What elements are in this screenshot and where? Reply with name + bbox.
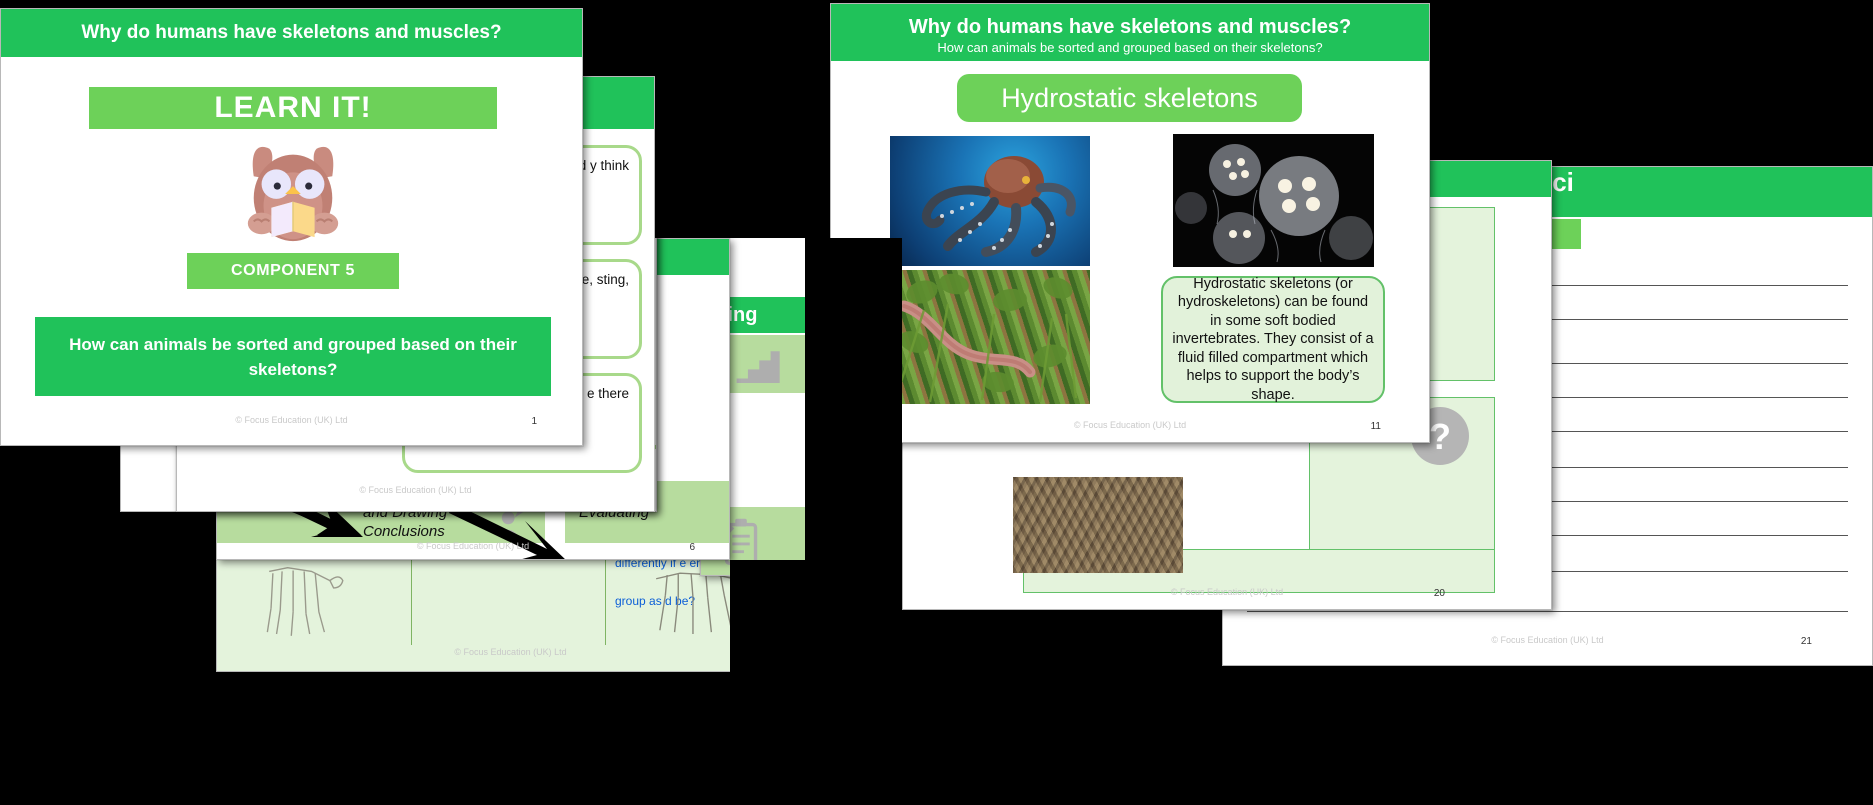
slide-learn-it[interactable]: Why do humans have skeletons and muscles… <box>0 8 583 446</box>
learn-it-label: LEARN IT! <box>214 91 371 125</box>
component-label: COMPONENT 5 <box>231 262 355 280</box>
earthworm-photo <box>890 270 1090 404</box>
component-badge: COMPONENT 5 <box>187 253 399 289</box>
background-mask <box>1222 666 1552 805</box>
slide-hydrostatic[interactable]: Why do humans have skeletons and muscles… <box>830 3 1430 443</box>
copyright-text: © Focus Education (UK) Ltd <box>903 587 1551 597</box>
worksheet-line <box>1247 611 1848 612</box>
jellyfish-photo <box>1173 134 1374 267</box>
background-mask <box>1552 0 1873 166</box>
slide-deck-canvas: inci rdo da inci to be Vinci possess? © … <box>0 0 1873 805</box>
page-number: 21 <box>1801 636 1812 647</box>
hydrostatic-info-box: Hydrostatic skeletons (or hydroskeletons… <box>1161 276 1385 403</box>
svg-text:?: ? <box>1429 416 1451 457</box>
learn-it-banner: LEARN IT! <box>89 87 497 129</box>
copyright-text: © Focus Education (UK) Ltd <box>831 420 1429 430</box>
page-number: 20 <box>1434 588 1445 599</box>
page-number: 1 <box>531 416 537 427</box>
page-title: Why do humans have skeletons and muscles… <box>81 9 501 57</box>
copyright-text: © Focus Education (UK) Ltd <box>1223 635 1872 645</box>
background-mask <box>1552 666 1873 805</box>
background-mask <box>902 610 1222 805</box>
fur-photo <box>1013 477 1183 573</box>
copyright-text: © Focus Education (UK) Ltd <box>217 541 729 551</box>
page-title: Why do humans have skeletons and muscles… <box>909 15 1351 39</box>
stairs-icon <box>733 349 781 383</box>
page-number: 11 <box>1371 421 1381 432</box>
skeleton-illustration-left <box>247 553 365 645</box>
big-question-text: How can animals be sorted and grouped ba… <box>45 332 541 382</box>
copyright-text: © Focus Education (UK) Ltd <box>177 485 654 495</box>
hydrostatic-title-pill: Hydrostatic skeletons <box>957 74 1302 122</box>
big-question-banner: How can animals be sorted and grouped ba… <box>35 317 551 396</box>
slide-hydrostatic-header: Why do humans have skeletons and muscles… <box>831 4 1429 61</box>
background-mask <box>730 560 820 805</box>
copyright-text: © Focus Education (UK) Ltd <box>1 415 582 425</box>
background-mask <box>1430 0 1552 3</box>
page-number: 6 <box>689 542 695 553</box>
owl-reading-icon <box>214 137 372 245</box>
slide-learn-it-header: Why do humans have skeletons and muscles… <box>1 9 582 57</box>
octopus-photo <box>890 136 1090 266</box>
copyright-text: © Focus Education (UK) Ltd <box>217 647 804 657</box>
page-subtitle: How can animals be sorted and grouped ba… <box>937 39 1322 57</box>
hydrostatic-title-label: Hydrostatic skeletons <box>1001 83 1258 114</box>
hydrostatic-info-text: Hydrostatic skeletons (or hydroskeletons… <box>1171 275 1375 405</box>
background-mask <box>0 512 216 805</box>
background-mask <box>655 0 830 238</box>
